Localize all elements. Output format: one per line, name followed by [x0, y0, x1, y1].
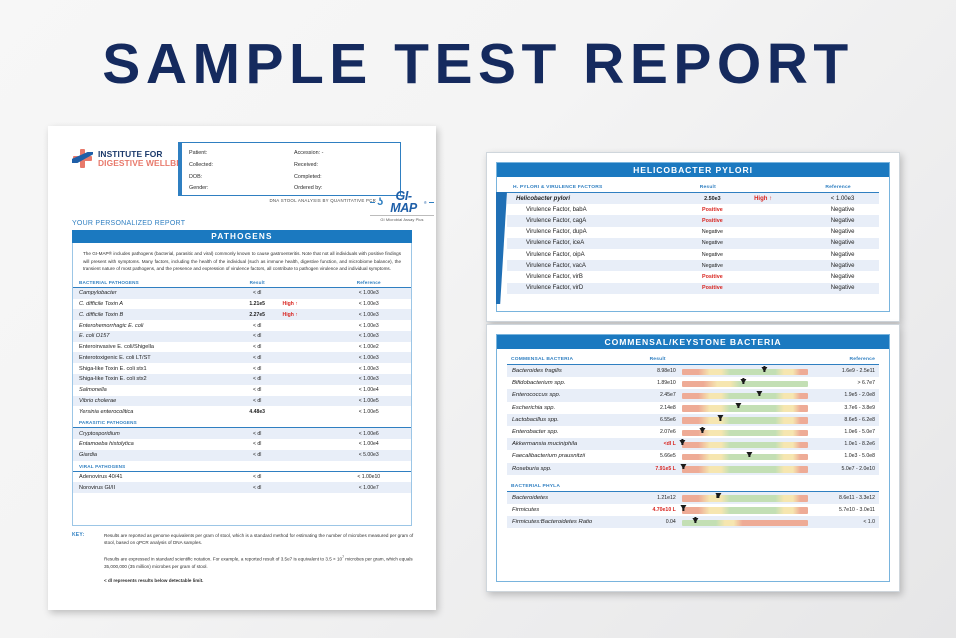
- result-gauge: [682, 426, 808, 438]
- result-value: < dl: [232, 287, 283, 298]
- personalized-report-label: YOUR PERSONALIZED REPORT: [72, 220, 185, 227]
- result-flag: [283, 482, 327, 493]
- table-group-header: BACTERIAL PHYLA: [507, 481, 879, 492]
- reference-range: < 5.00e3: [326, 450, 411, 461]
- analyte-name: Virulence Factor, virD: [507, 283, 671, 294]
- table-group-header: H. PYLORI & VIRULENCE FACTORSResultRefer…: [507, 182, 879, 193]
- table-row: Vibrio cholerae< dl< 1.00e5: [73, 396, 411, 407]
- reference-range: < 1.00e6: [326, 428, 411, 439]
- analyte-name: Shiga-like Toxin E. coli stx2: [73, 374, 232, 385]
- result-flag: [283, 342, 327, 353]
- key-label: KEY:: [72, 532, 98, 592]
- reference-range: < 1.00e3: [326, 287, 411, 298]
- analyte-name: Bifidobacterium spp.: [507, 377, 633, 389]
- result-flag: [283, 287, 327, 298]
- result-value: 2.27e5: [232, 309, 283, 320]
- analyte-name: Enterohemorrhagic E. coli: [73, 320, 232, 331]
- analyte-name: Virulence Factor, vacA: [507, 260, 671, 271]
- table-row: Norovirus GI/II< dl< 1.00e7: [73, 482, 411, 493]
- group-name: PARASITIC PATHOGENS: [73, 417, 232, 428]
- gauge-marker-icon: [735, 403, 741, 408]
- analyte-name: Faecalibacterium prausnitzii: [507, 450, 633, 462]
- cross-swoosh-logo-icon: [72, 148, 93, 169]
- table-row: Firmicutes:Bacteroidetes Ratio0.04< 1.0: [507, 516, 879, 528]
- reference-range: 5.0e7 - 2.0e10: [808, 463, 879, 475]
- reference-range: Negative: [797, 204, 879, 215]
- result-value: Negative: [671, 260, 745, 271]
- reference-range: Negative: [797, 238, 879, 249]
- result-flag: [745, 215, 797, 226]
- result-value: < dl: [232, 385, 283, 396]
- result-value: Positive: [671, 215, 745, 226]
- result-flag: High ↑: [283, 299, 327, 310]
- reference-range: < 1.00e10: [326, 471, 411, 482]
- col-result: Result: [671, 182, 745, 193]
- table-row: Lactobacillus spp.6.55e68.6e5 - 6.2e8: [507, 414, 879, 426]
- analyte-name: C. difficile Toxin A: [73, 299, 232, 310]
- reference-range: < 1.00e3: [326, 309, 411, 320]
- col-result: [232, 461, 283, 472]
- reference-range: 1.0e3 - 5.0e8: [808, 450, 879, 462]
- analyte-name: Helicobacter pylori: [507, 193, 671, 205]
- result-value: 7.91e5 L: [633, 463, 681, 475]
- analyte-name: Roseburia spp.: [507, 463, 633, 475]
- gimap-wordmark: GI-MAP: [385, 190, 422, 214]
- analyte-name: Virulence Factor, dupA: [507, 227, 671, 238]
- result-value: 2.07e6: [633, 426, 681, 438]
- analyte-name: Virulence Factor, virB: [507, 271, 671, 282]
- reference-range: < 1.00e3: [326, 363, 411, 374]
- result-flag: [283, 406, 327, 417]
- table-row: Virulence Factor, oipANegativeNegative: [507, 249, 879, 260]
- col-result: Result: [633, 354, 681, 365]
- patient-field: Patient:: [189, 148, 288, 160]
- reference-range: < 1.00e3: [326, 352, 411, 363]
- gauge-marker-icon: [717, 415, 723, 420]
- reference-range: 8.6e5 - 6.2e8: [808, 414, 879, 426]
- key-paragraph-3: < dl represents results below detectable…: [104, 577, 416, 584]
- table-row: Firmicutes4.70e10 L5.7e10 - 3.0e11: [507, 504, 879, 516]
- result-value: < dl: [232, 428, 283, 439]
- table-row: Virulence Factor, iceANegativeNegative: [507, 238, 879, 249]
- group-name: VIRAL PATHOGENS: [73, 461, 232, 472]
- result-value: 5.66e5: [633, 450, 681, 462]
- result-value: Positive: [671, 283, 745, 294]
- col-reference: Reference: [797, 182, 879, 193]
- screenshot-root: SAMPLE TEST REPORT INSTITUTE FOR DIGESTI…: [0, 0, 956, 638]
- gauge-marker-icon: [762, 367, 768, 372]
- result-flag: [283, 374, 327, 385]
- analyte-name: Virulence Factor, babA: [507, 204, 671, 215]
- reference-range: < 1.00e3: [326, 299, 411, 310]
- result-gauge: [682, 450, 808, 462]
- result-value: Negative: [671, 249, 745, 260]
- table-row: Akkermansia muciniphila<dl L1.0e1 - 8.2e…: [507, 438, 879, 450]
- reference-range: 8.6e11 - 3.3e12: [808, 491, 879, 504]
- result-flag: [745, 283, 797, 294]
- analyte-name: Shiga-like Toxin E. coli stx1: [73, 363, 232, 374]
- result-flag: [745, 204, 797, 215]
- result-flag: [745, 227, 797, 238]
- result-value: < dl: [232, 450, 283, 461]
- table-row: Roseburia spp.7.91e5 L5.0e7 - 2.0e10: [507, 463, 879, 475]
- table-row: Virulence Factor, dupANegativeNegative: [507, 227, 879, 238]
- gauge-marker-icon: [681, 505, 687, 510]
- col-analyte: H. PYLORI & VIRULENCE FACTORS: [507, 182, 671, 193]
- patient-field: Completed:: [294, 172, 393, 184]
- reference-range: < 1.00e2: [326, 342, 411, 353]
- reference-range: 5.7e10 - 3.0e11: [808, 504, 879, 516]
- result-value: Positive: [671, 271, 745, 282]
- commensal-bacteria-page: COMMENSAL/KEYSTONE BACTERIA COMMENSAL BA…: [486, 324, 900, 592]
- result-value: < dl: [232, 396, 283, 407]
- table-row: Entamoeba histolytica< dl< 1.00e4: [73, 439, 411, 450]
- gauge-marker-icon: [747, 452, 753, 457]
- table-row: Campylobacter< dl< 1.00e3: [73, 287, 411, 298]
- result-value: 0.04: [633, 516, 681, 528]
- result-value: < dl: [232, 331, 283, 342]
- result-value: < dl: [232, 320, 283, 331]
- result-value: < dl: [232, 363, 283, 374]
- col-reference: Reference: [808, 354, 879, 365]
- table-row: Enterobacter spp.2.07e61.0e6 - 5.0e7: [507, 426, 879, 438]
- reference-range: Negative: [797, 260, 879, 271]
- result-value: <dl L: [633, 438, 681, 450]
- table-row: Enterococcus spp.2.45e71.9e5 - 2.0e8: [507, 389, 879, 401]
- gauge-marker-icon: [681, 464, 687, 469]
- analyte-name: Adenovirus 40/41: [73, 471, 232, 482]
- reference-range: Negative: [797, 283, 879, 294]
- table-row: Virulence Factor, babAPositiveNegative: [507, 204, 879, 215]
- reference-range: < 1.00e5: [326, 406, 411, 417]
- patient-field: Gender:: [189, 183, 288, 195]
- hpylori-section-header: HELICOBACTER PYLORI: [497, 163, 889, 177]
- gauge-marker-icon: [700, 428, 706, 433]
- result-value: 8.98e10: [633, 365, 681, 378]
- col-result: [232, 417, 283, 428]
- table-row: Helicobacter pylori2.50e3High ↑< 1.00e3: [507, 193, 879, 205]
- reference-range: 1.6e9 - 2.5e11: [808, 365, 879, 378]
- result-flag: [745, 249, 797, 260]
- table-row: Faecalibacterium prausnitzii5.66e51.0e3 …: [507, 450, 879, 462]
- reference-range: Negative: [797, 249, 879, 260]
- result-value: Negative: [671, 227, 745, 238]
- result-value: < dl: [232, 352, 283, 363]
- result-gauge: [682, 377, 808, 389]
- result-flag: [283, 471, 327, 482]
- gauge-marker-icon: [740, 379, 746, 384]
- table-row: Escherichia spp.2.14e83.7e6 - 3.8e9: [507, 402, 879, 414]
- analyte-name: Akkermansia muciniphila: [507, 438, 633, 450]
- registered-mark-icon: ®: [424, 200, 427, 205]
- result-gauge: [682, 438, 808, 450]
- result-flag: [283, 320, 327, 331]
- reference-range: > 6.7e7: [808, 377, 879, 389]
- hpylori-table: H. PYLORI & VIRULENCE FACTORSResultRefer…: [507, 182, 879, 294]
- reference-range: < 1.00e4: [326, 439, 411, 450]
- patient-field: Collected:: [189, 160, 288, 172]
- result-value: Positive: [671, 204, 745, 215]
- result-flag: [283, 352, 327, 363]
- table-row: Shiga-like Toxin E. coli stx1< dl< 1.00e…: [73, 363, 411, 374]
- table-group-header: PARASITIC PATHOGENS: [73, 417, 411, 428]
- reference-range: < 1.00e3: [326, 374, 411, 385]
- result-flag: [745, 238, 797, 249]
- analyte-name: Firmicutes: [507, 504, 633, 516]
- pathogens-section-header: PATHOGENS: [72, 230, 412, 243]
- analyte-name: Virulence Factor, oipA: [507, 249, 671, 260]
- result-value: < dl: [232, 471, 283, 482]
- analyte-name: Salmonella: [73, 385, 232, 396]
- table-row: Yersinia enterocolitica4.48e3< 1.00e5: [73, 406, 411, 417]
- reference-range: 1.0e1 - 8.2e6: [808, 438, 879, 450]
- table-row: Salmonella< dl< 1.00e4: [73, 385, 411, 396]
- commensal-section-header: COMMENSAL/KEYSTONE BACTERIA: [497, 335, 889, 349]
- analyte-name: Yersinia enterocolitica: [73, 406, 232, 417]
- table-group-header: VIRAL PATHOGENS: [73, 461, 411, 472]
- reference-range: 3.7e6 - 3.8e9: [808, 402, 879, 414]
- analyte-name: Cryptosporidium: [73, 428, 232, 439]
- table-group-header: COMMENSAL BACTERIAResultReference: [507, 354, 879, 365]
- result-flag: [283, 385, 327, 396]
- result-gauge: [682, 414, 808, 426]
- key-block: KEY: Results are reported as genome equi…: [72, 532, 416, 592]
- group-name: BACTERIAL PHYLA: [507, 481, 633, 492]
- analyte-name: Vibrio cholerae: [73, 396, 232, 407]
- analyte-name: C. difficile Toxin B: [73, 309, 232, 320]
- reference-range: 1.0e6 - 5.0e7: [808, 426, 879, 438]
- analyte-name: Lactobacillus spp.: [507, 414, 633, 426]
- table-row: Enterotoxigenic E. coli LT/ST< dl< 1.00e…: [73, 352, 411, 363]
- result-flag: High ↑: [745, 193, 797, 205]
- reference-range: < 1.00e3: [326, 331, 411, 342]
- reference-range: 1.9e5 - 2.0e8: [808, 389, 879, 401]
- col-reference: [326, 461, 411, 472]
- result-gauge: [682, 463, 808, 475]
- table-row: Shiga-like Toxin E. coli stx2< dl< 1.00e…: [73, 374, 411, 385]
- analyte-name: Enterobacter spp.: [507, 426, 633, 438]
- table-row: Virulence Factor, vacANegativeNegative: [507, 260, 879, 271]
- analyte-name: Giardia: [73, 450, 232, 461]
- key-paragraph-1: Results are reported as genome equivalen…: [104, 532, 416, 547]
- table-row: Bacteroidetes1.21e128.6e11 - 3.3e12: [507, 491, 879, 504]
- reference-range: < 1.0: [808, 516, 879, 528]
- result-gauge: [682, 516, 808, 528]
- analyte-name: Campylobacter: [73, 287, 232, 298]
- helicobacter-pylori-page: HELICOBACTER PYLORI H. PYLORI & VIRULENC…: [486, 152, 900, 322]
- result-flag: [745, 271, 797, 282]
- table-row: Virulence Factor, cagAPositiveNegative: [507, 215, 879, 226]
- patient-info-box: Patient:Accession: -Collected:Received:D…: [178, 142, 401, 196]
- analyte-name: Norovirus GI/II: [73, 482, 232, 493]
- reference-range: < 1.00e3: [797, 193, 879, 205]
- reference-range: Negative: [797, 215, 879, 226]
- col-analyte: COMMENSAL BACTERIA: [507, 354, 633, 365]
- result-value: 4.48e3: [232, 406, 283, 417]
- gauge-marker-icon: [715, 493, 721, 498]
- result-value: 1.21e12: [633, 491, 681, 504]
- analyte-name: Virulence Factor, iceA: [507, 238, 671, 249]
- result-gauge: [682, 365, 808, 378]
- table-row: C. difficile Toxin B2.27e5High ↑< 1.00e3: [73, 309, 411, 320]
- col-reference: Reference: [326, 277, 411, 288]
- result-flag: [283, 363, 327, 374]
- patient-field: Received:: [294, 160, 393, 172]
- table-row: Bacteroides fragilis8.98e101.6e9 - 2.5e1…: [507, 365, 879, 378]
- analyte-name: Virulence Factor, cagA: [507, 215, 671, 226]
- result-flag: [283, 450, 327, 461]
- reference-range: Negative: [797, 271, 879, 282]
- result-gauge: [682, 504, 808, 516]
- analyte-name: Enteroinvasive E. coli/Shigella: [73, 342, 232, 353]
- table-row: Enteroinvasive E. coli/Shigella< dl< 1.0…: [73, 342, 411, 353]
- result-value: 2.45e7: [633, 389, 681, 401]
- result-value: 6.55e6: [633, 414, 681, 426]
- result-value: < dl: [232, 439, 283, 450]
- gauge-marker-icon: [679, 440, 685, 445]
- table-row: Adenovirus 40/41< dl< 1.00e10: [73, 471, 411, 482]
- result-value: 2.50e3: [671, 193, 745, 205]
- result-gauge: [682, 491, 808, 504]
- reference-range: Negative: [797, 227, 879, 238]
- analyte-name: Enterococcus spp.: [507, 389, 633, 401]
- analyte-name: Entamoeba histolytica: [73, 439, 232, 450]
- result-flag: [283, 396, 327, 407]
- analyte-name: Firmicutes:Bacteroidetes Ratio: [507, 516, 633, 528]
- page-title: SAMPLE TEST REPORT: [0, 34, 956, 94]
- table-row: Cryptosporidium< dl< 1.00e6: [73, 428, 411, 439]
- reference-range: < 1.00e4: [326, 385, 411, 396]
- analyte-name: Bacteroidetes: [507, 491, 633, 504]
- result-flag: [745, 260, 797, 271]
- result-flag: [283, 428, 327, 439]
- result-value: 1.89e10: [633, 377, 681, 389]
- analyte-name: E. coli O157: [73, 331, 232, 342]
- patient-field: Accession: -: [294, 148, 393, 160]
- reference-range: < 1.00e5: [326, 396, 411, 407]
- result-gauge: [682, 402, 808, 414]
- result-value: < dl: [232, 342, 283, 353]
- table-row: Virulence Factor, virDPositiveNegative: [507, 283, 879, 294]
- result-flag: High ↑: [283, 309, 327, 320]
- analyte-name: Bacteroides fragilis: [507, 365, 633, 378]
- result-gauge: [682, 389, 808, 401]
- result-value: < dl: [232, 482, 283, 493]
- result-flag: [283, 331, 327, 342]
- patient-field: DOB:: [189, 172, 288, 184]
- table-row: Bifidobacterium spp.1.89e10> 6.7e7: [507, 377, 879, 389]
- group-name: BACTERIAL PATHOGENS: [73, 277, 232, 288]
- col-result: Result: [232, 277, 283, 288]
- pathogens-section-body: The GI-MAP® includes pathogens (bacteria…: [72, 243, 412, 526]
- key-paragraph-2: Results are expressed in standard scient…: [104, 554, 416, 570]
- analyte-name: Escherichia spp.: [507, 402, 633, 414]
- result-value: 4.70e10 L: [633, 504, 681, 516]
- result-value: < dl: [232, 374, 283, 385]
- table-row: Virulence Factor, virBPositiveNegative: [507, 271, 879, 282]
- result-flag: [283, 439, 327, 450]
- table-row: Enterohemorrhagic E. coli< dl< 1.00e3: [73, 320, 411, 331]
- assay-method-note: DNA STOOL ANALYSIS BY QUANTITATIVE PCR: [208, 198, 376, 203]
- table-row: C. difficile Toxin A1.21e5High ↑< 1.00e3: [73, 299, 411, 310]
- gauge-marker-icon: [692, 518, 698, 523]
- gimap-logo: ʖ GI-MAP ® GI Microbial Assay Plus: [370, 190, 434, 222]
- pathogens-table: BACTERIAL PATHOGENSResultReferenceCampyl…: [73, 277, 411, 493]
- pathogens-report-page: INSTITUTE FOR DIGESTIVE WELLBEING Patien…: [48, 126, 436, 610]
- pathogens-intro-text: The GI-MAP® includes pathogens (bacteria…: [73, 243, 411, 277]
- gauge-marker-icon: [757, 391, 763, 396]
- gimap-subtitle: GI Microbial Assay Plus: [370, 215, 434, 222]
- result-value: 2.14e8: [633, 402, 681, 414]
- reference-range: < 1.00e3: [326, 320, 411, 331]
- reference-range: < 1.00e7: [326, 482, 411, 493]
- analyte-name: Enterotoxigenic E. coli LT/ST: [73, 352, 232, 363]
- result-value: Negative: [671, 238, 745, 249]
- col-reference: [326, 417, 411, 428]
- table-row: Giardia< dl< 5.00e3: [73, 450, 411, 461]
- gimap-glyph-icon: ʖ: [377, 197, 383, 207]
- table-row: E. coli O157< dl< 1.00e3: [73, 331, 411, 342]
- result-value: 1.21e5: [232, 299, 283, 310]
- table-group-header: BACTERIAL PATHOGENSResultReference: [73, 277, 411, 288]
- commensal-table: COMMENSAL BACTERIAResultReferenceBactero…: [507, 354, 879, 528]
